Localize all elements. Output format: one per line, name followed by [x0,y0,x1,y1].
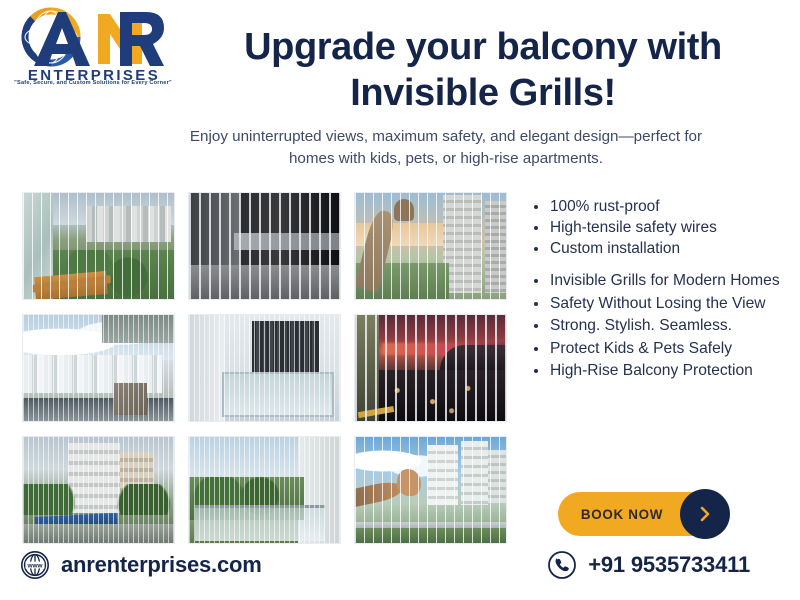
gallery-photo-6[interactable] [354,314,507,422]
book-now-arrow-badge[interactable] [680,489,730,539]
website-label: anrenterprises.com [61,552,262,578]
svg-text:www: www [27,563,43,570]
header-section: ENTERPRISES Upgrade your balcony with In… [0,0,800,180]
photo-arm-raised-sunset-highrise [355,193,506,299]
globe-www-icon: www [20,550,50,580]
book-now-label: BOOK NOW [558,492,686,536]
photo-tower-blue-roof-building [23,437,174,543]
list-item: Protect Kids & Pets Safely [528,338,790,361]
photo-dark-corridor-night-rails [189,193,340,299]
chevron-right-icon [695,504,715,524]
feature-list: 100% rust-proof High-tensile safety wire… [528,196,790,383]
list-item: Custom installation [528,238,790,259]
gallery-photo-9[interactable] [354,436,507,544]
photo-bright-balcony-white-apartments [23,315,174,421]
photo-balcony-wood-rail-cityscape [23,193,174,299]
list-item: Strong. Stylish. Seamless. [528,315,790,338]
brand-logo[interactable]: ENTERPRISES [14,4,174,90]
gallery-photo-1[interactable] [22,192,175,300]
gallery-photo-3[interactable] [354,192,507,300]
list-item: Invisible Grills for Modern Homes [528,270,790,293]
phone-label: +91 9535733411 [588,552,750,578]
list-item: High-tensile safety wires [528,217,790,238]
gallery-photo-8[interactable] [188,436,341,544]
photo-glass-rail-dark-window [189,315,340,421]
photo-gallery-grid [22,192,506,544]
flyer-canvas: ENTERPRISES Upgrade your balcony with In… [0,0,800,600]
photo-night-city-pink-sunset [355,315,506,421]
list-item: 100% rust-proof [528,196,790,217]
list-spacer [528,259,790,270]
book-now-button[interactable]: BOOK NOW [558,492,724,536]
gallery-photo-2[interactable] [188,192,341,300]
brand-tagline: "Safe, Secure, and Custom Solutions for … [12,80,174,86]
list-item: High-Rise Balcony Protection [528,360,790,383]
footer-section: www anrenterprises.com +91 9535733411 [0,544,800,600]
gallery-photo-4[interactable] [22,314,175,422]
gallery-photo-7[interactable] [22,436,175,544]
feature-group-secondary: Invisible Grills for Modern Homes Safety… [528,270,790,383]
phone-link[interactable]: +91 9535733411 [547,550,750,580]
phone-circle-icon [547,550,577,580]
page-subheadline: Enjoy uninterrupted views, maximum safet… [186,126,706,170]
list-item: Safety Without Losing the View [528,293,790,316]
photo-hand-through-grill-towers [355,437,506,543]
photo-glass-rail-trees-sky [189,437,340,543]
gallery-photo-5[interactable] [188,314,341,422]
headline-line-1: Upgrade your balcony with [178,24,788,70]
website-link[interactable]: www anrenterprises.com [20,550,262,580]
brand-logo-wordmark: ENTERPRISES [14,4,174,90]
page-headline: Upgrade your balcony with Invisible Gril… [178,24,788,116]
feature-group-primary: 100% rust-proof High-tensile safety wire… [528,196,790,259]
headline-line-2: Invisible Grills! [178,70,788,116]
